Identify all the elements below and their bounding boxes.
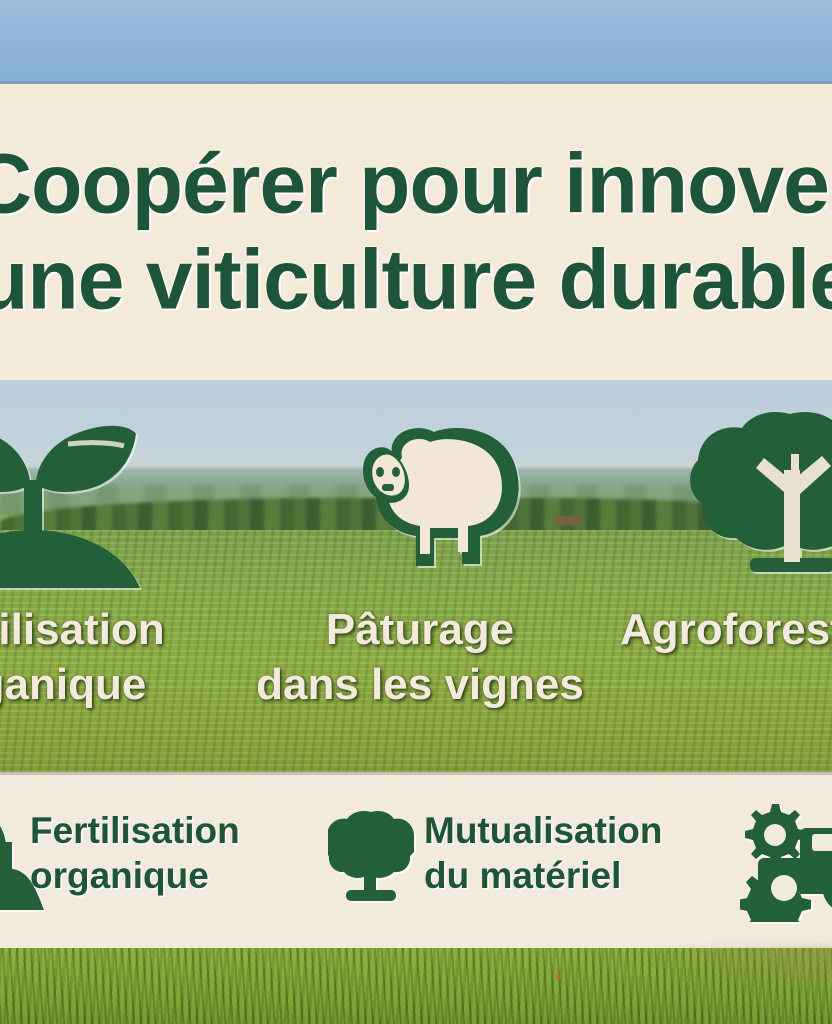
photo-label-fertilisation: Fertilisation organique — [0, 602, 200, 712]
photo-label-paturage: Pâturage dans les vignes — [250, 602, 590, 712]
photo-label-paturage-line-2: dans les vignes — [250, 657, 590, 712]
tractor-gears-icon — [740, 800, 832, 922]
grass-strip — [0, 948, 832, 1024]
farmhouse — [555, 516, 581, 525]
title-banner: Coopérer pour innover une viticulture du… — [0, 84, 832, 380]
photo-label-fertilisation-line-1: Fertilisation — [0, 602, 200, 657]
photo-label-paturage-line-1: Pâturage — [250, 602, 590, 657]
photo-label-agroforesterie-line-1: Agroforesterie — [620, 602, 832, 657]
bottom-label-mutualisation: Mutualisation du matériel — [424, 808, 662, 898]
bottom-label-mutualisation-line-1: Mutualisation — [424, 808, 662, 853]
grass-detail — [556, 974, 561, 980]
title-line-1: Coopérer pour innover — [0, 136, 832, 232]
bottom-label-fertilisation-line-1: Fertilisation — [30, 808, 240, 853]
sky-background — [0, 0, 832, 84]
title-text-block: Coopérer pour innover une viticulture du… — [0, 136, 832, 328]
bottom-label-fertilisation-line-2: organique — [30, 853, 240, 898]
photo-label-fertilisation-line-2: organique — [0, 657, 200, 712]
photo-label-agroforesterie: Agroforesterie — [620, 602, 832, 657]
infographic-poster: Coopérer pour innover une viticulture du… — [0, 0, 832, 1024]
bottom-label-mutualisation-line-2: du matériel — [424, 853, 662, 898]
bottom-label-fertilisation: Fertilisation organique — [30, 808, 240, 898]
landscape-photo-band: Fertilisation organique Pâturage dans le… — [0, 380, 832, 772]
sprout-icon — [0, 422, 148, 592]
sheep-icon — [330, 420, 530, 578]
tree-icon — [690, 410, 832, 578]
bottom-item-fertilisation: Fertilisation organique — [30, 808, 240, 898]
bottom-item-mutualisation: Mutualisation du matériel — [424, 808, 662, 898]
tree-icon — [328, 810, 414, 910]
title-line-2: une viticulture durable — [0, 232, 832, 328]
bottom-icon-band: Fertilisation organique Mutualisation du… — [0, 772, 832, 948]
